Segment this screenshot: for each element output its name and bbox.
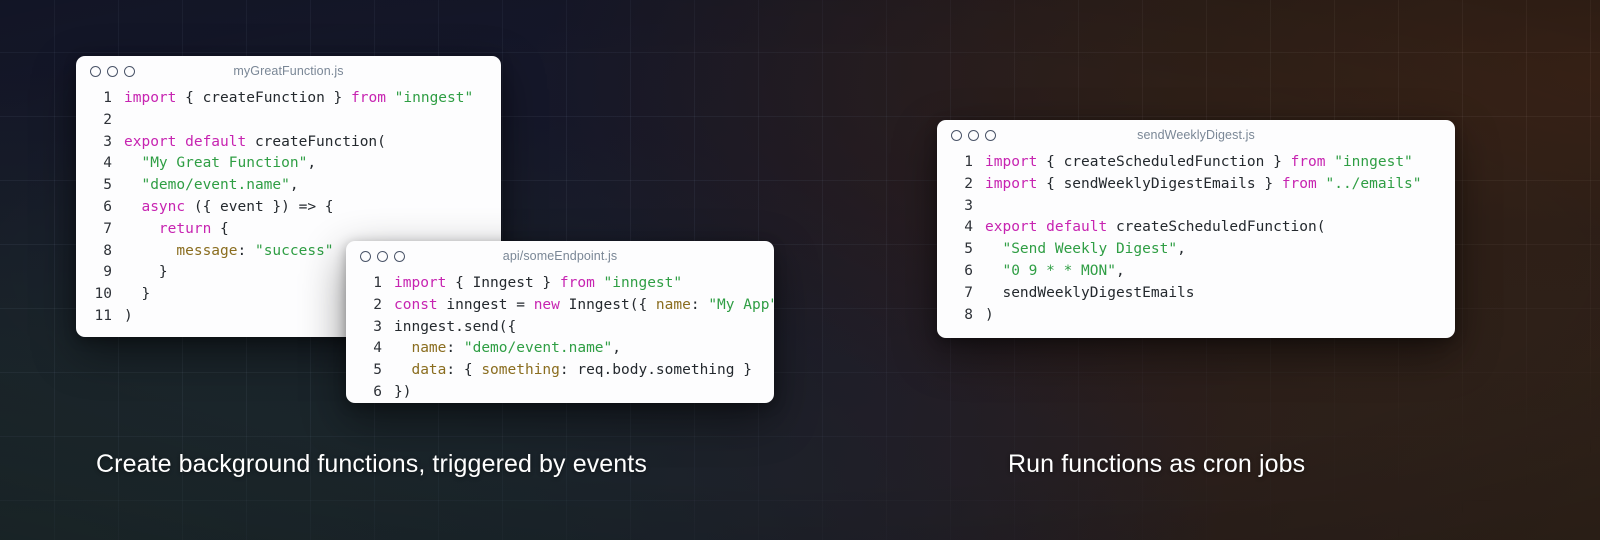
window-title: api/someEndpoint.js <box>346 249 774 263</box>
line-number: 5 <box>356 360 382 382</box>
traffic-light-dots <box>360 251 405 262</box>
token-plain: : <box>238 243 255 259</box>
code-window-send-weekly-digest[interactable]: sendWeeklyDigest.js 1import { createSche… <box>937 120 1455 338</box>
token-kw: import <box>985 154 1037 170</box>
line-number: 6 <box>356 382 382 403</box>
token-plain: { <box>211 221 228 237</box>
line-number: 6 <box>947 261 973 283</box>
token-plain <box>386 90 395 106</box>
code-line-text: import { createFunction } from "inngest" <box>124 88 473 110</box>
token-plain: , <box>307 155 316 171</box>
code-line: 1import { createScheduledFunction } from… <box>947 152 1441 174</box>
token-str: "inngest" <box>604 275 683 291</box>
close-dot-icon[interactable] <box>360 251 371 262</box>
traffic-light-dots <box>951 130 996 141</box>
code-line-text: message: "success" <box>124 241 334 263</box>
token-kw: async <box>141 199 185 215</box>
token-plain: , <box>1116 263 1125 279</box>
code-line-text: data: { something: req.body.something } <box>394 360 752 382</box>
token-plain <box>985 263 1002 279</box>
token-str: "My Great Function" <box>141 155 307 171</box>
line-number: 1 <box>356 273 382 295</box>
code-line: 2const inngest = new Inngest({ name: "My… <box>356 295 760 317</box>
token-str: "Send Weekly Digest" <box>1002 241 1177 257</box>
token-plain: { Inngest } <box>446 275 560 291</box>
code-line-text: async ({ event }) => { <box>124 197 334 219</box>
token-plain <box>595 275 604 291</box>
code-line: 2import { sendWeeklyDigestEmails } from … <box>947 174 1441 196</box>
code-line: 3inngest.send({ <box>356 317 760 339</box>
token-plain: createFunction( <box>246 134 386 150</box>
code-line-text: "My Great Function", <box>124 153 316 175</box>
line-number: 3 <box>947 196 973 218</box>
window-title: myGreatFunction.js <box>76 64 501 78</box>
code-line-text: } <box>124 262 168 284</box>
code-line: 7 sendWeeklyDigestEmails <box>947 283 1441 305</box>
promo-banner: myGreatFunction.js 1import { createFunct… <box>0 0 1600 540</box>
code-line-text: export default createScheduledFunction( <box>985 217 1325 239</box>
code-line-text: "Send Weekly Digest", <box>985 239 1186 261</box>
code-line-text: ) <box>124 306 133 328</box>
token-str: "inngest" <box>395 90 474 106</box>
close-dot-icon[interactable] <box>951 130 962 141</box>
line-number: 2 <box>86 110 112 132</box>
code-window-api-some-endpoint[interactable]: api/someEndpoint.js 1import { Inngest } … <box>346 241 774 403</box>
line-number: 11 <box>86 306 112 328</box>
token-kw: new <box>534 297 560 313</box>
token-plain: , <box>612 340 621 356</box>
code-line: 1import { createFunction } from "inngest… <box>86 88 487 110</box>
token-kw: export default <box>985 219 1107 235</box>
token-plain: }) <box>394 384 411 400</box>
token-plain: inngest = <box>438 297 534 313</box>
code-line-text: sendWeeklyDigestEmails <box>985 283 1195 305</box>
token-plain: ) <box>124 308 133 324</box>
code-line-text: import { Inngest } from "inngest" <box>394 273 682 295</box>
line-number: 4 <box>947 217 973 239</box>
token-plain: : req.body.something } <box>560 362 752 378</box>
code-line: 5 "Send Weekly Digest", <box>947 239 1441 261</box>
minimize-dot-icon[interactable] <box>377 251 388 262</box>
token-plain: { sendWeeklyDigestEmails } <box>1037 176 1281 192</box>
code-line-text: export default createFunction( <box>124 132 386 154</box>
code-line: 6}) <box>356 382 760 403</box>
code-line: 2 <box>86 110 487 132</box>
line-number: 10 <box>86 284 112 306</box>
token-prop: message <box>176 243 237 259</box>
code-body: 1import { Inngest } from "inngest"2const… <box>346 271 774 403</box>
token-kw: import <box>985 176 1037 192</box>
code-line: 3export default createFunction( <box>86 132 487 154</box>
token-plain <box>124 177 141 193</box>
token-kw: return <box>159 221 211 237</box>
token-kw: from <box>1282 176 1317 192</box>
token-str: "demo/event.name" <box>464 340 612 356</box>
code-line: 6 async ({ event }) => { <box>86 197 487 219</box>
minimize-dot-icon[interactable] <box>107 66 118 77</box>
caption-right: Run functions as cron jobs <box>1008 450 1305 479</box>
code-line-text: import { sendWeeklyDigestEmails } from "… <box>985 174 1422 196</box>
code-line-text: name: "demo/event.name", <box>394 338 621 360</box>
token-plain: , <box>1177 241 1186 257</box>
line-number: 9 <box>86 262 112 284</box>
token-prop: data <box>411 362 446 378</box>
code-line: 8) <box>947 305 1441 327</box>
token-plain <box>124 199 141 215</box>
token-plain <box>394 340 411 356</box>
minimize-dot-icon[interactable] <box>968 130 979 141</box>
code-line-text: inngest.send({ <box>394 317 516 339</box>
caption-left: Create background functions, triggered b… <box>96 450 647 479</box>
code-line: 3 <box>947 196 1441 218</box>
token-plain: inngest.send({ <box>394 319 516 335</box>
code-line: 7 return { <box>86 219 487 241</box>
window-titlebar: myGreatFunction.js <box>76 56 501 86</box>
token-plain: { createFunction } <box>176 90 351 106</box>
line-number: 7 <box>947 283 973 305</box>
line-number: 8 <box>947 305 973 327</box>
line-number: 2 <box>356 295 382 317</box>
line-number: 2 <box>947 174 973 196</box>
token-str: "../emails" <box>1325 176 1421 192</box>
token-plain: } <box>124 264 168 280</box>
line-number: 6 <box>86 197 112 219</box>
code-line-text: return { <box>124 219 229 241</box>
token-plain: createScheduledFunction( <box>1107 219 1325 235</box>
window-titlebar: api/someEndpoint.js <box>346 241 774 271</box>
line-number: 4 <box>86 153 112 175</box>
token-str: "success" <box>255 243 334 259</box>
code-line-text: ) <box>985 305 994 327</box>
close-dot-icon[interactable] <box>90 66 101 77</box>
token-plain <box>985 241 1002 257</box>
token-kw: from <box>560 275 595 291</box>
code-line-text: const inngest = new Inngest({ name: "My … <box>394 295 774 317</box>
token-kw: from <box>351 90 386 106</box>
token-str: "0 9 * * MON" <box>1002 263 1116 279</box>
token-kw: import <box>394 275 446 291</box>
code-line: 5 "demo/event.name", <box>86 175 487 197</box>
token-prop: name <box>656 297 691 313</box>
token-plain: : { <box>446 362 481 378</box>
maximize-dot-icon[interactable] <box>394 251 405 262</box>
code-line-text: } <box>124 284 150 306</box>
token-plain: ({ event }) => { <box>185 199 333 215</box>
code-line: 4export default createScheduledFunction( <box>947 217 1441 239</box>
token-str: "demo/event.name" <box>141 177 289 193</box>
token-plain: { createScheduledFunction } <box>1037 154 1290 170</box>
window-titlebar: sendWeeklyDigest.js <box>937 120 1455 150</box>
token-plain: : <box>446 340 463 356</box>
token-plain: ) <box>985 307 994 323</box>
code-line: 4 "My Great Function", <box>86 153 487 175</box>
token-plain <box>124 155 141 171</box>
maximize-dot-icon[interactable] <box>985 130 996 141</box>
token-str: "inngest" <box>1334 154 1413 170</box>
line-number: 5 <box>86 175 112 197</box>
token-plain: sendWeeklyDigestEmails <box>985 285 1195 301</box>
line-number: 3 <box>86 132 112 154</box>
code-line-text: import { createScheduledFunction } from … <box>985 152 1413 174</box>
token-prop: name <box>411 340 446 356</box>
code-line-text: "demo/event.name", <box>124 175 299 197</box>
code-line-text: "0 9 * * MON", <box>985 261 1125 283</box>
code-body: 1import { createScheduledFunction } from… <box>937 150 1455 338</box>
line-number: 4 <box>356 338 382 360</box>
line-number: 5 <box>947 239 973 261</box>
line-number: 3 <box>356 317 382 339</box>
token-plain: : <box>691 297 708 313</box>
token-plain <box>124 243 176 259</box>
code-line-text <box>124 110 133 132</box>
token-kw: import <box>124 90 176 106</box>
code-line: 6 "0 9 * * MON", <box>947 261 1441 283</box>
line-number: 7 <box>86 219 112 241</box>
line-number: 8 <box>86 241 112 263</box>
token-plain <box>394 362 411 378</box>
code-line: 1import { Inngest } from "inngest" <box>356 273 760 295</box>
line-number: 1 <box>86 88 112 110</box>
traffic-light-dots <box>90 66 135 77</box>
token-prop: something <box>481 362 560 378</box>
token-str: "My App" <box>708 297 774 313</box>
token-plain <box>124 221 159 237</box>
token-kw: from <box>1291 154 1326 170</box>
token-kw: export default <box>124 134 246 150</box>
token-plain: } <box>124 286 150 302</box>
token-kw: const <box>394 297 438 313</box>
code-line: 5 data: { something: req.body.something … <box>356 360 760 382</box>
token-plain <box>1325 154 1334 170</box>
token-plain: , <box>290 177 299 193</box>
code-line-text <box>985 196 994 218</box>
window-title: sendWeeklyDigest.js <box>937 128 1455 142</box>
token-plain: Inngest({ <box>560 297 656 313</box>
code-line-text: }) <box>394 382 411 403</box>
maximize-dot-icon[interactable] <box>124 66 135 77</box>
code-line: 4 name: "demo/event.name", <box>356 338 760 360</box>
line-number: 1 <box>947 152 973 174</box>
